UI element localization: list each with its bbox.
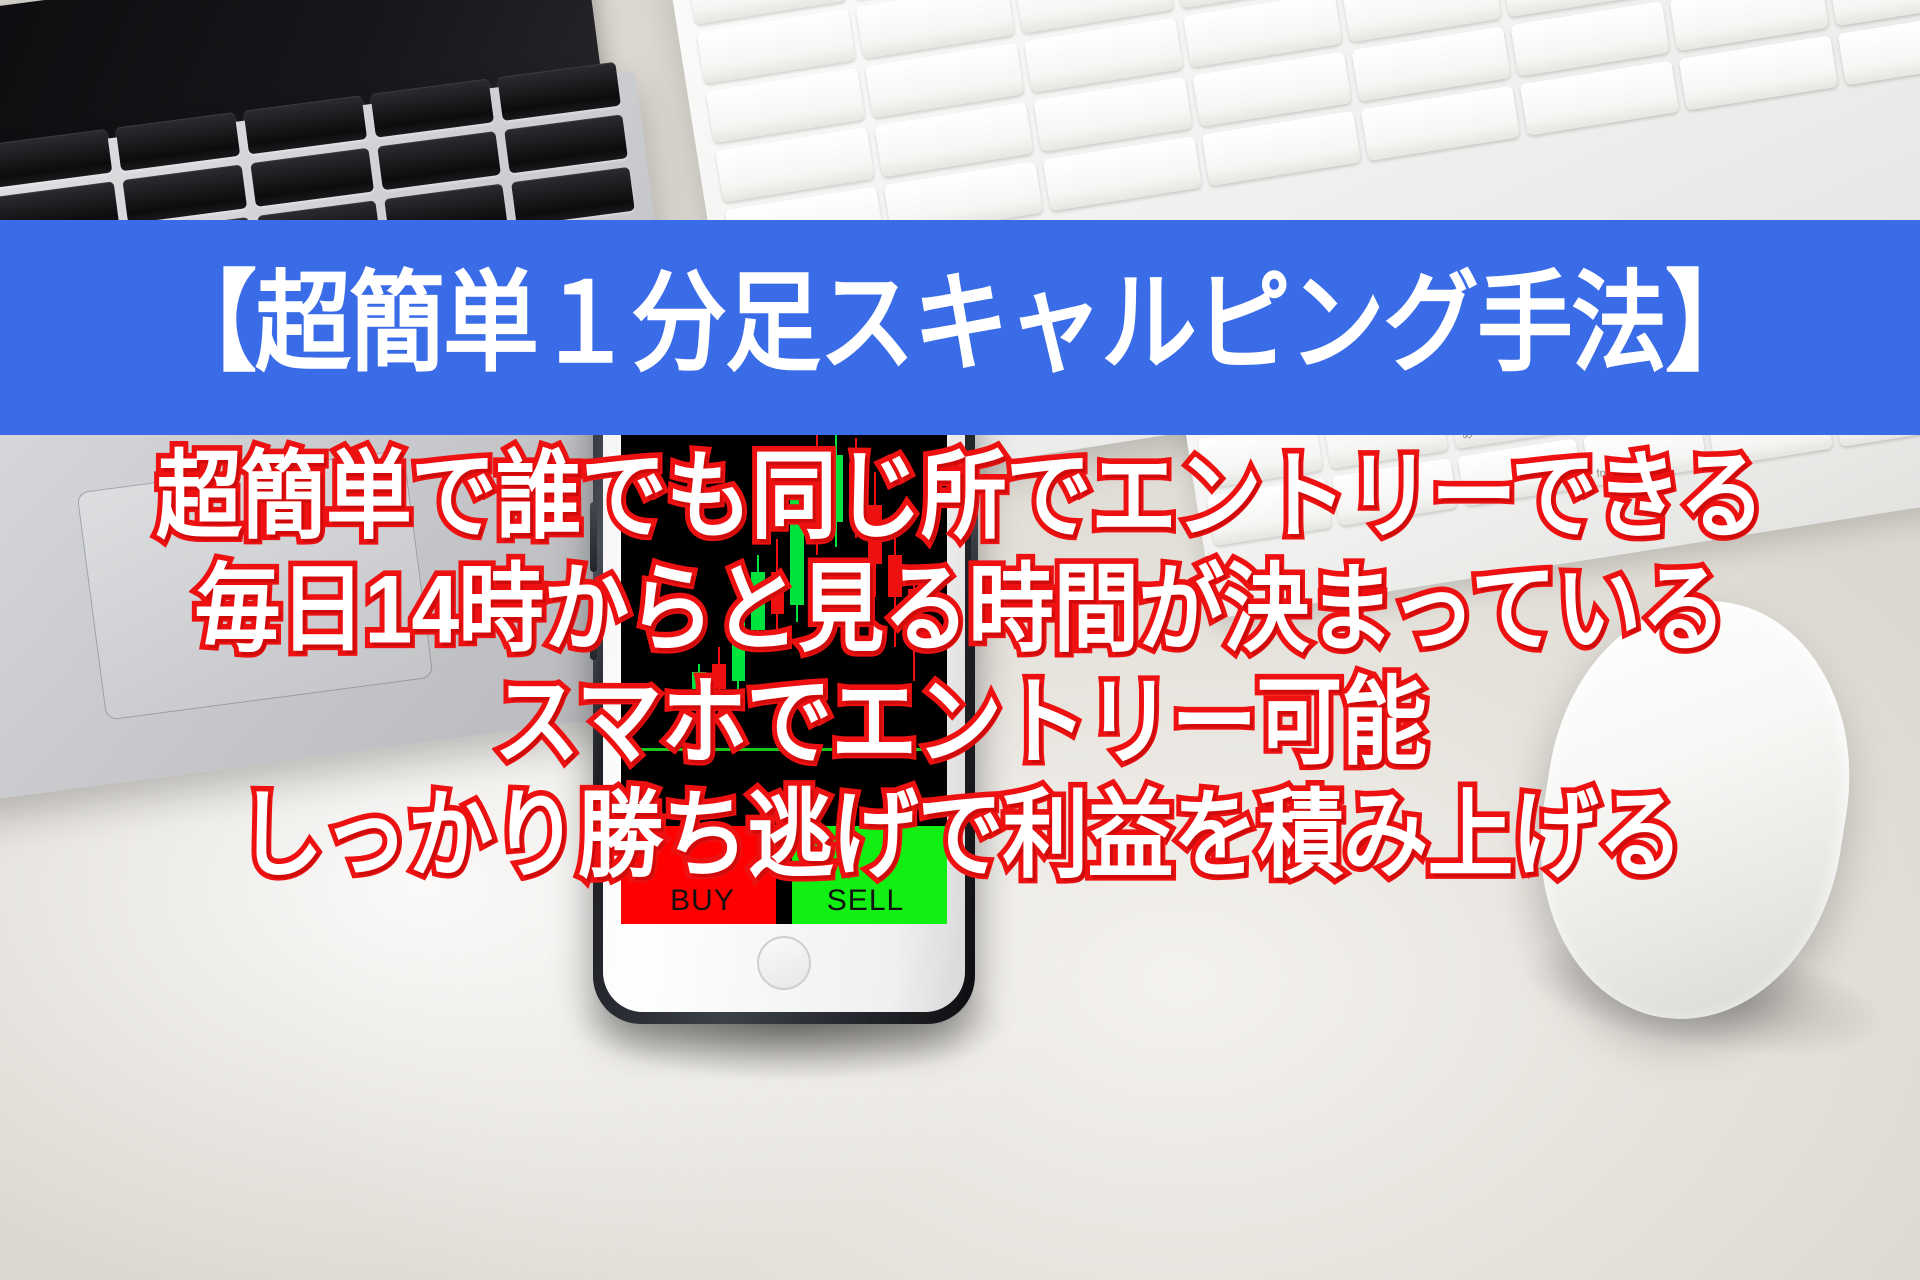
phone-power-button[interactable]: [971, 512, 978, 608]
laptop-key: [511, 167, 635, 226]
phone-volume-up-button[interactable]: [590, 502, 597, 572]
laptop-key: [377, 131, 501, 190]
candle-body: [751, 572, 765, 631]
candle-body: [849, 463, 863, 513]
desk-photo-background: BUY SELL: [0, 0, 1920, 1280]
candle: [829, 388, 843, 806]
candle: [751, 388, 765, 806]
candle-body: [868, 505, 882, 564]
candle-body: [810, 488, 824, 530]
candle-body: [888, 555, 902, 597]
sell-button[interactable]: SELL: [784, 826, 947, 924]
candle: [712, 388, 726, 806]
kbd-key: [1332, 458, 1457, 526]
laptop-key: [250, 148, 374, 207]
support-line: [628, 748, 941, 751]
candle-body: [732, 622, 746, 681]
kbd-key: [1207, 478, 1332, 546]
candle: [888, 388, 902, 806]
smartphone: BUY SELL: [593, 352, 975, 1024]
candle: [849, 388, 863, 806]
laptop-trackpad: [76, 449, 433, 720]
phone-screen[interactable]: BUY SELL: [621, 388, 947, 924]
candle-body: [790, 497, 804, 606]
phone-home-button[interactable]: [757, 936, 811, 990]
candle-body: [712, 664, 726, 689]
candle-body: [908, 589, 922, 631]
candle: [790, 388, 804, 806]
candle-body: [771, 572, 785, 614]
candle: [732, 388, 746, 806]
candle: [771, 388, 785, 806]
trade-button-divider: [776, 826, 792, 924]
candle-body: [692, 672, 706, 689]
trade-button-bar: BUY SELL: [621, 826, 947, 924]
laptop-key: [504, 114, 628, 173]
candle: [810, 388, 824, 806]
laptop-key: [123, 165, 247, 224]
buy-button[interactable]: BUY: [621, 826, 784, 924]
candle: [868, 388, 882, 806]
candle: [908, 388, 922, 806]
candle-body: [829, 455, 843, 522]
kbd-key: [1457, 438, 1582, 506]
title-banner: 【超簡単１分足スキャルピング手法】: [0, 220, 1920, 435]
banner-title-text: 【超簡単１分足スキャルピング手法】: [161, 269, 1759, 385]
phone-volume-down-button[interactable]: [590, 590, 597, 660]
phone-bezel: BUY SELL: [603, 364, 965, 1012]
candle: [692, 388, 706, 806]
screenshot-canvas: BUY SELL 【超簡単１分足スキャルピング手法】 超簡単で誰でも同じ所でエン…: [0, 0, 1920, 1280]
